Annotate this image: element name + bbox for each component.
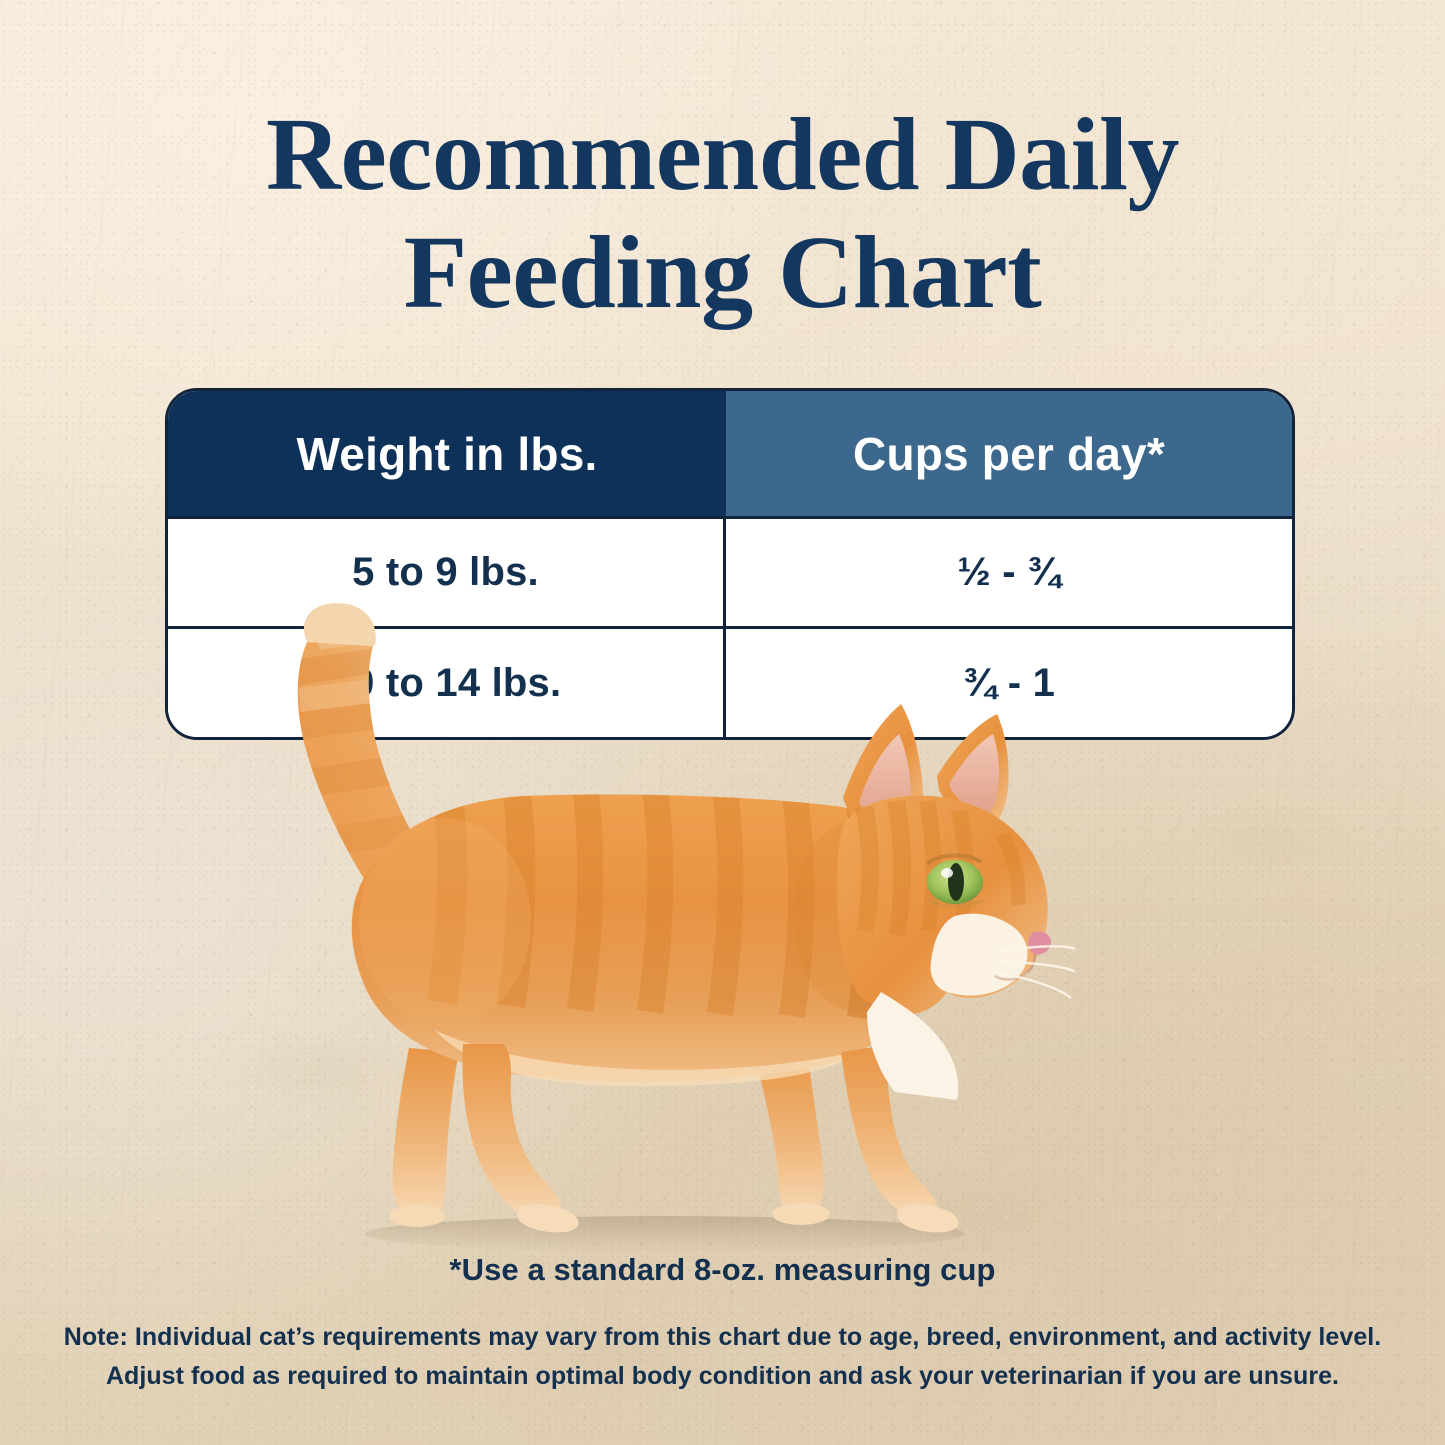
table-row: 5 to 9 lbs. <box>168 519 726 629</box>
table-header-weight: Weight in lbs. <box>168 391 726 519</box>
footnote-note: Note: Individual cat’s requirements may … <box>0 1318 1445 1396</box>
table-row: ¾ - 1 <box>726 629 1292 737</box>
table-header-cups: Cups per day* <box>726 391 1292 519</box>
feeding-chart-canvas: Recommended Daily Feeding Chart Weight i… <box>0 0 1445 1445</box>
footnote-measuring-cup: *Use a standard 8-oz. measuring cup <box>0 1252 1445 1288</box>
feeding-table: Weight in lbs. Cups per day* 5 to 9 lbs.… <box>165 388 1295 740</box>
table-row: ½ - ¾ <box>726 519 1292 629</box>
page-title: Recommended Daily Feeding Chart <box>0 96 1445 331</box>
table-row: 10 to 14 lbs. <box>168 629 726 737</box>
